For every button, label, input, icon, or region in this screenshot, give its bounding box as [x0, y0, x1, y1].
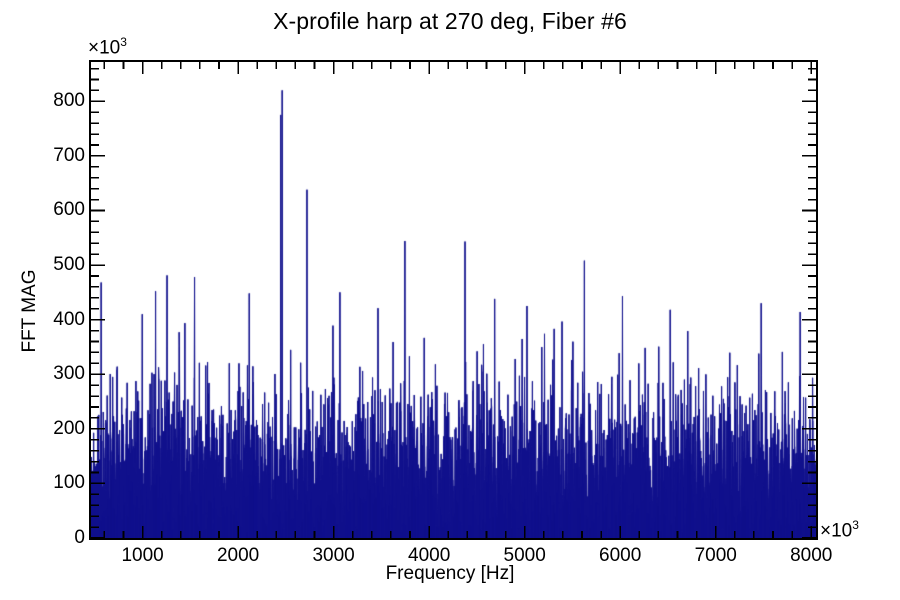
y-tick-label: 200: [19, 418, 85, 440]
chart-figure: X-profile harp at 270 deg, Fiber #6 ×103…: [0, 0, 900, 600]
x-tick-label: 2000: [217, 545, 259, 567]
x-tick-label: 6000: [599, 545, 641, 567]
y-tick-label: 700: [19, 145, 85, 167]
x-exponent-base: ×10: [820, 520, 852, 541]
x-tick-label: 5000: [504, 545, 546, 567]
y-tick-label: 600: [19, 199, 85, 221]
plot-frame: [89, 60, 818, 540]
y-exponent-base: ×10: [88, 37, 120, 58]
y-exponent-power: 3: [120, 35, 127, 49]
y-tick-label: 0: [19, 527, 85, 549]
chart-title: X-profile harp at 270 deg, Fiber #6: [0, 8, 900, 35]
y-tick-label: 800: [19, 90, 85, 112]
x-tick-label: 3000: [312, 545, 354, 567]
fft-spectrum-plot: [91, 62, 816, 538]
x-tick-label: 7000: [695, 545, 737, 567]
y-tick-label: 100: [19, 472, 85, 494]
x-exponent-power: 3: [852, 518, 859, 532]
y-tick-label: 500: [19, 254, 85, 276]
y-tick-label: 300: [19, 363, 85, 385]
y-axis-exponent-label: ×103: [88, 35, 127, 59]
x-tick-label: 8000: [790, 545, 832, 567]
x-tick-label: 1000: [121, 545, 163, 567]
x-tick-label: 4000: [408, 545, 450, 567]
x-axis-exponent-label: ×103: [820, 518, 859, 542]
y-tick-label: 400: [19, 309, 85, 331]
